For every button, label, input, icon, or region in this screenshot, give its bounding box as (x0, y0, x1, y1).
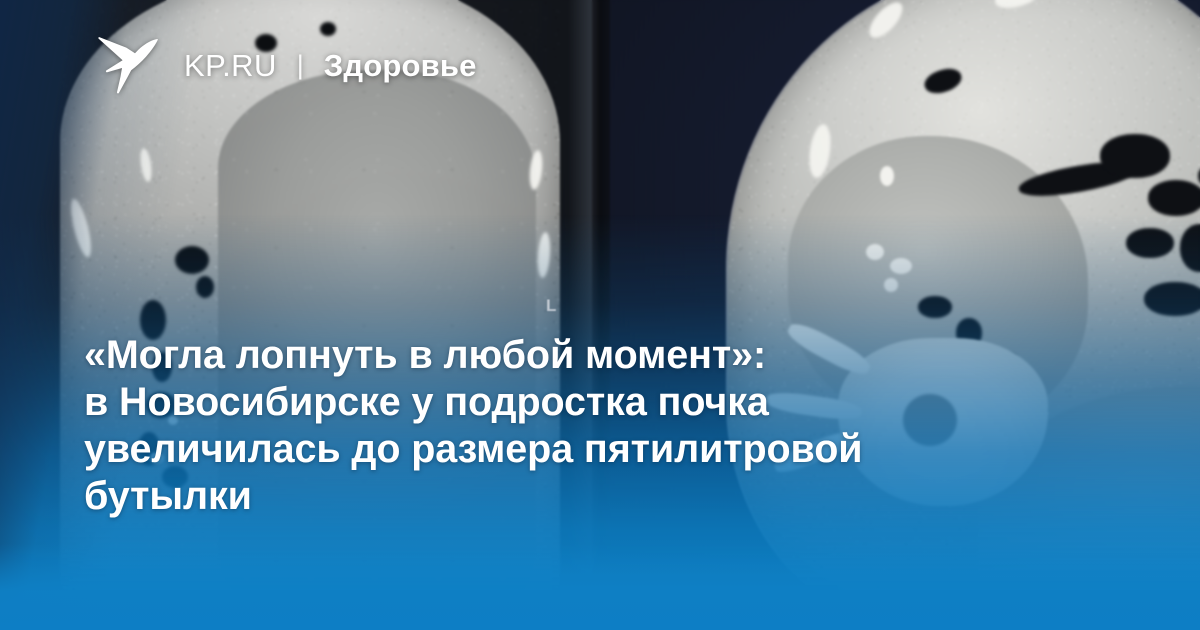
gas-pocket (320, 22, 336, 36)
headline-line-2: в Новосибирске у подростка почка (84, 379, 1094, 426)
gas-pocket (175, 246, 209, 274)
kp-swallow-bird-icon[interactable] (96, 36, 158, 94)
brand-text-row: KP.RU | Здоровье (158, 50, 477, 81)
headline-line-1: «Могла лопнуть в любой момент»: (84, 332, 1094, 379)
gas-pocket (196, 276, 214, 298)
panel-divider (592, 0, 610, 630)
ct-panel-left (0, 0, 600, 630)
axial-body-section (728, 0, 1200, 626)
brand-separator: | (297, 52, 304, 79)
rubric-label[interactable]: Здоровье (324, 50, 477, 81)
ct-scan-photo: L (0, 0, 1200, 630)
article-share-card: L (0, 0, 1200, 630)
article-headline: «Могла лопнуть в любой момент»: в Новоси… (84, 332, 1094, 520)
ct-panel-right (600, 0, 1200, 630)
orientation-marker-l: L (546, 296, 556, 316)
panel-seam-glow (568, 0, 594, 630)
calcification (866, 244, 884, 260)
bowel-gas (1100, 134, 1170, 178)
bowel-gas (1144, 282, 1200, 316)
brand-logo-bar[interactable]: KP.RU | Здоровье (96, 36, 477, 94)
headline-line-4: бутылки (84, 473, 1094, 520)
calcification (890, 258, 912, 274)
site-name-label[interactable]: KP.RU (184, 50, 277, 81)
headline-line-3: увеличилась до размера пятилитровой (84, 426, 1094, 473)
bowel-gas (918, 296, 952, 318)
bowel-gas (1126, 228, 1174, 258)
calcification (884, 278, 898, 292)
bowel-gas (1148, 180, 1200, 216)
calcification (880, 166, 894, 186)
